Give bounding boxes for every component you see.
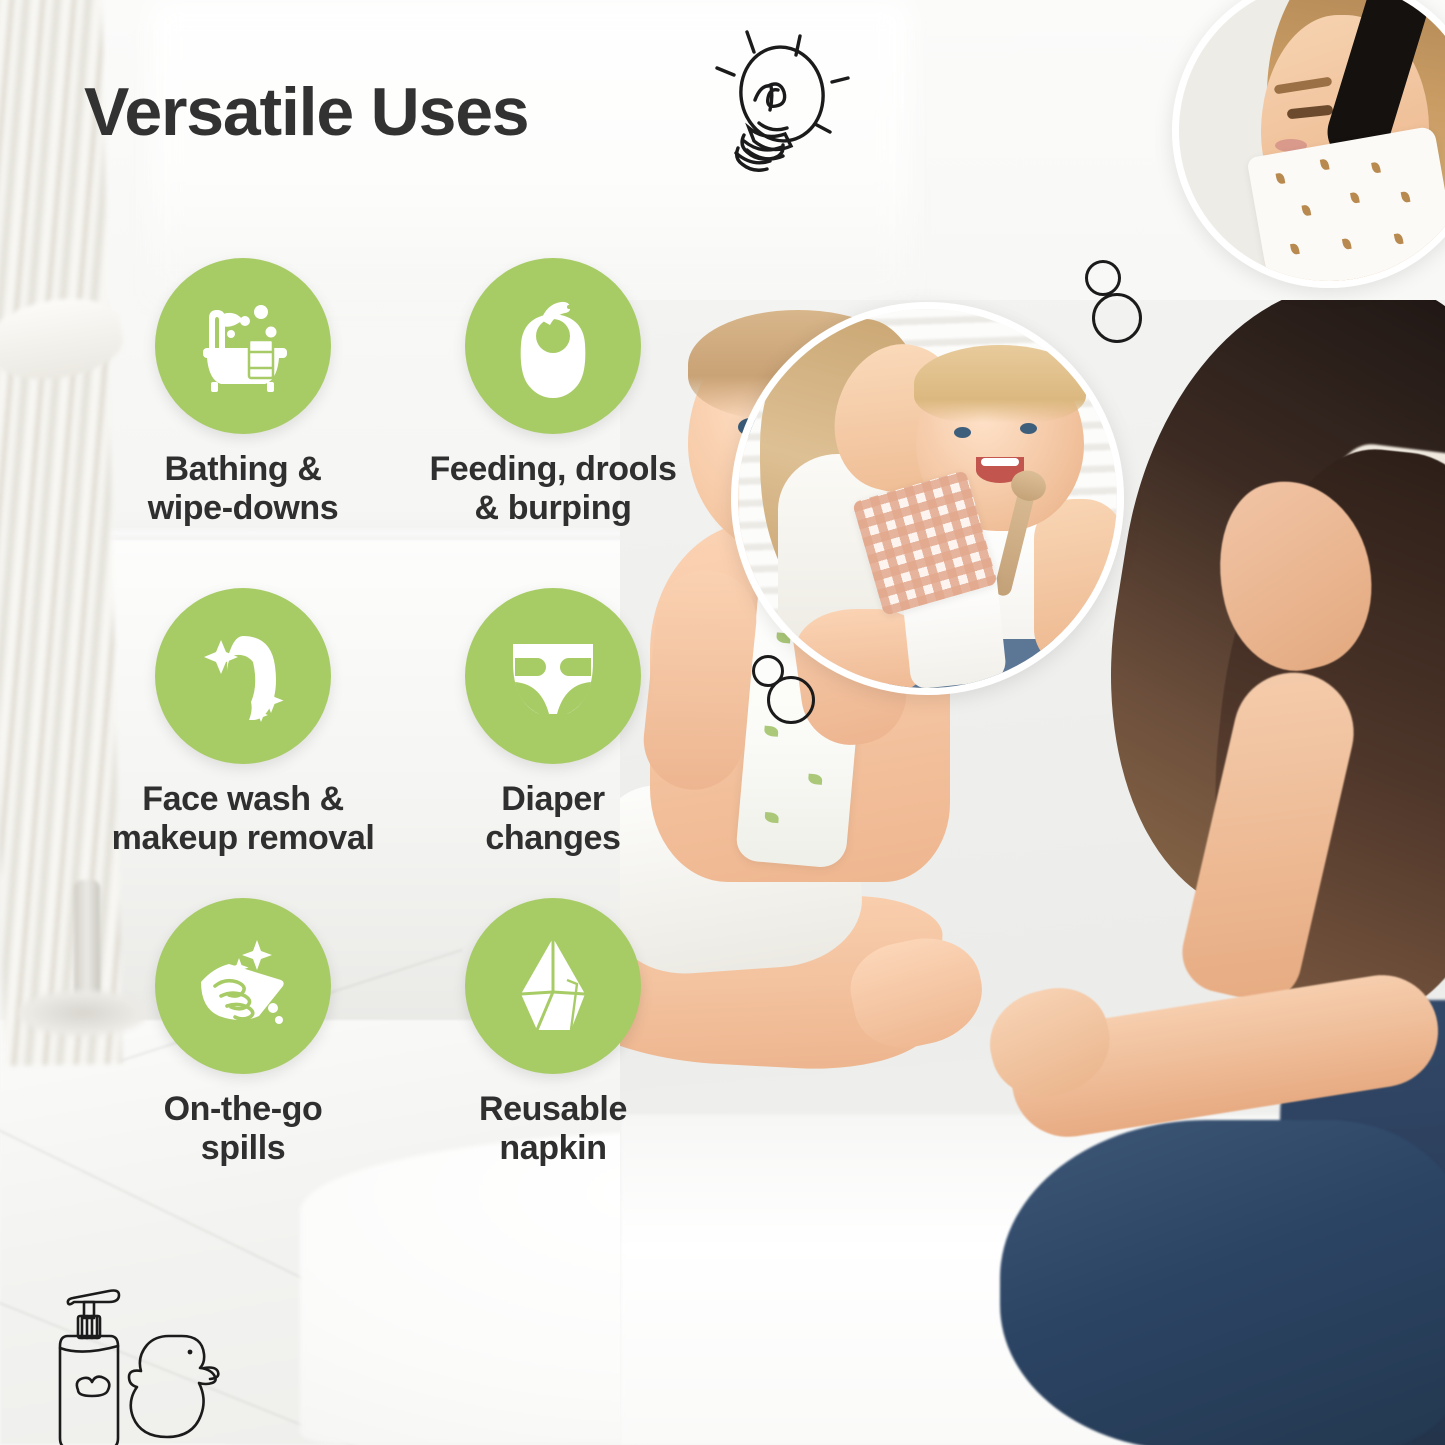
corner-doodles [46,1268,246,1445]
feature-label-line2: spills [78,1129,408,1168]
feature-label-line1: Feeding, drools [388,450,718,489]
feature-label-line1: Diaper [388,780,718,819]
feature-feeding: Feeding, drools & burping [388,258,718,529]
feature-napkin: Reusable napkin [388,898,718,1169]
feature-bathing: Bathing & wipe-downs [78,258,408,529]
page-title: Versatile Uses [84,78,528,146]
feature-label-line2: wipe-downs [78,489,408,528]
feature-label-line1: Face wash & [78,780,408,819]
feature-face-wash: Face wash & makeup removal [78,588,408,859]
feature-label-line1: Bathing & [78,450,408,489]
face-sparkle-icon [155,588,331,764]
rubber-duck-icon [129,1336,218,1437]
bubble-outline-icon [1085,260,1121,296]
bubble-outline-icon [767,676,815,724]
diaper-icon [465,588,641,764]
lightbulb-icon [700,22,865,202]
bathtub-shower-icon [155,258,331,434]
feature-label-line2: changes [388,819,718,858]
feature-label-line2: napkin [388,1129,718,1168]
soap-dispenser-icon [60,1291,119,1445]
baby-bib-icon [465,258,641,434]
feature-label-line1: On-the-go [78,1090,408,1129]
infographic-canvas: Versatile Uses [0,0,1445,1445]
feature-on-the-go: On-the-go spills [78,898,408,1169]
feature-label-line2: makeup removal [78,819,408,858]
folded-napkin-icon [465,898,641,1074]
hand-wiping-sparkle-icon [155,898,331,1074]
photo-mother-baby-bib [731,302,1124,695]
feature-label-line2: & burping [388,489,718,528]
bubble-outline-icon [1092,293,1142,343]
photo-woman-face-wipe [1172,0,1445,288]
feature-diaper: Diaper changes [388,588,718,859]
feature-label-line1: Reusable [388,1090,718,1129]
